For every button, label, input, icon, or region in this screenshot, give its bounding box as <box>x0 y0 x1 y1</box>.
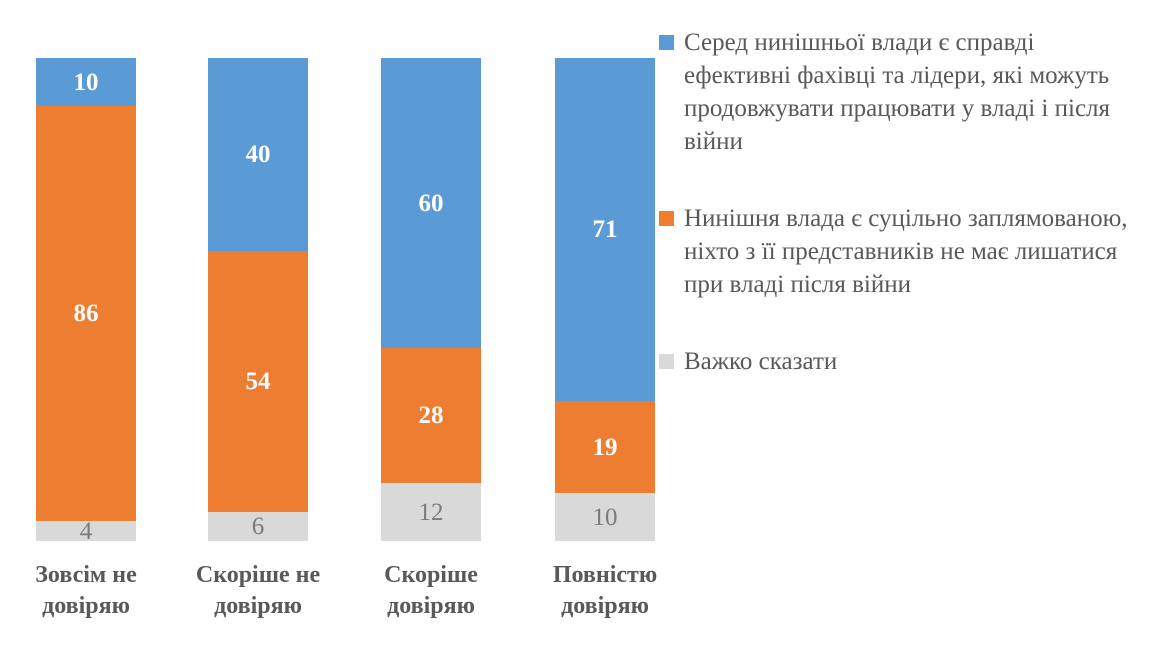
category-label-line1: Скоріше не <box>178 560 338 591</box>
bar-column-skorishe-ne-doviryayu[interactable]: 40 54 6 <box>208 58 308 541</box>
bar-segment-orange[interactable]: 86 <box>36 106 136 521</box>
bar-segment-value: 10 <box>74 70 99 95</box>
bar-segment-value: 6 <box>252 514 265 539</box>
bar-segment-blue[interactable]: 10 <box>36 58 136 106</box>
category-label-line1: Скоріше <box>351 560 511 591</box>
stacked-bar-chart: 10 86 4 40 54 6 60 <box>0 0 1154 658</box>
category-label-skorishe-doviryayu: Скоріше довіряю <box>351 560 511 621</box>
bar-segment-gray[interactable]: 10 <box>555 493 655 541</box>
bar-segment-value: 60 <box>419 191 444 216</box>
legend-item-effective-professionals[interactable]: Серед нинішньої влади є справді ефективн… <box>659 26 1147 158</box>
bar-segment-value: 28 <box>419 403 444 428</box>
bar-column-zovsim-ne-doviryayu[interactable]: 10 86 4 <box>36 58 136 541</box>
category-label-line1: Зовсім не <box>6 560 166 591</box>
bar-segment-value: 4 <box>80 521 93 541</box>
plot-area: 10 86 4 40 54 6 60 <box>0 0 680 658</box>
bar-segment-blue[interactable]: 71 <box>555 58 655 401</box>
category-label-line2: довіряю <box>351 591 511 622</box>
bar-segment-blue[interactable]: 60 <box>381 58 481 348</box>
legend-swatch-orange-icon <box>659 211 674 226</box>
chart-legend: Серед нинішньої влади є справді ефективн… <box>659 26 1147 378</box>
bar-segment-orange[interactable]: 19 <box>555 401 655 493</box>
bar-segment-value: 10 <box>593 505 618 530</box>
category-label-line2: довіряю <box>525 591 685 622</box>
bar-segment-blue[interactable]: 40 <box>208 58 308 251</box>
bar-segment-value: 12 <box>419 500 444 525</box>
bar-segment-value: 86 <box>74 301 99 326</box>
bar-segment-orange[interactable]: 54 <box>208 251 308 512</box>
category-label-line2: довіряю <box>178 591 338 622</box>
bar-segment-gray[interactable]: 12 <box>381 483 481 541</box>
legend-swatch-blue-icon <box>659 35 674 50</box>
bar-segment-value: 19 <box>593 435 618 460</box>
category-label-line1: Повністю <box>525 560 685 591</box>
category-label-skorishe-ne-doviryayu: Скоріше не довіряю <box>178 560 338 621</box>
bar-segment-value: 54 <box>246 369 271 394</box>
bar-segment-value: 71 <box>593 217 618 242</box>
legend-item-label: Серед нинішньої влади є справді ефективн… <box>684 26 1147 158</box>
bar-column-povnistyu-doviryayu[interactable]: 71 19 10 <box>555 58 655 541</box>
legend-item-tainted-government[interactable]: Нинішня влада є суцільно заплямованою, н… <box>659 202 1147 301</box>
legend-swatch-gray-icon <box>659 354 674 369</box>
bar-segment-orange[interactable]: 28 <box>381 348 481 483</box>
bar-segment-gray[interactable]: 4 <box>36 521 136 541</box>
legend-item-hard-to-say[interactable]: Важко сказати <box>659 345 1147 378</box>
bar-segment-value: 40 <box>246 142 271 167</box>
bar-segment-gray[interactable]: 6 <box>208 512 308 541</box>
bar-column-skorishe-doviryayu[interactable]: 60 28 12 <box>381 58 481 541</box>
category-label-povnistyu-doviryayu: Повністю довіряю <box>525 560 685 621</box>
legend-item-label: Важко сказати <box>684 345 837 378</box>
legend-item-label: Нинішня влада є суцільно заплямованою, н… <box>684 202 1147 301</box>
category-label-zovsim-ne-doviryayu: Зовсім не довіряю <box>6 560 166 621</box>
category-label-line2: довіряю <box>6 591 166 622</box>
